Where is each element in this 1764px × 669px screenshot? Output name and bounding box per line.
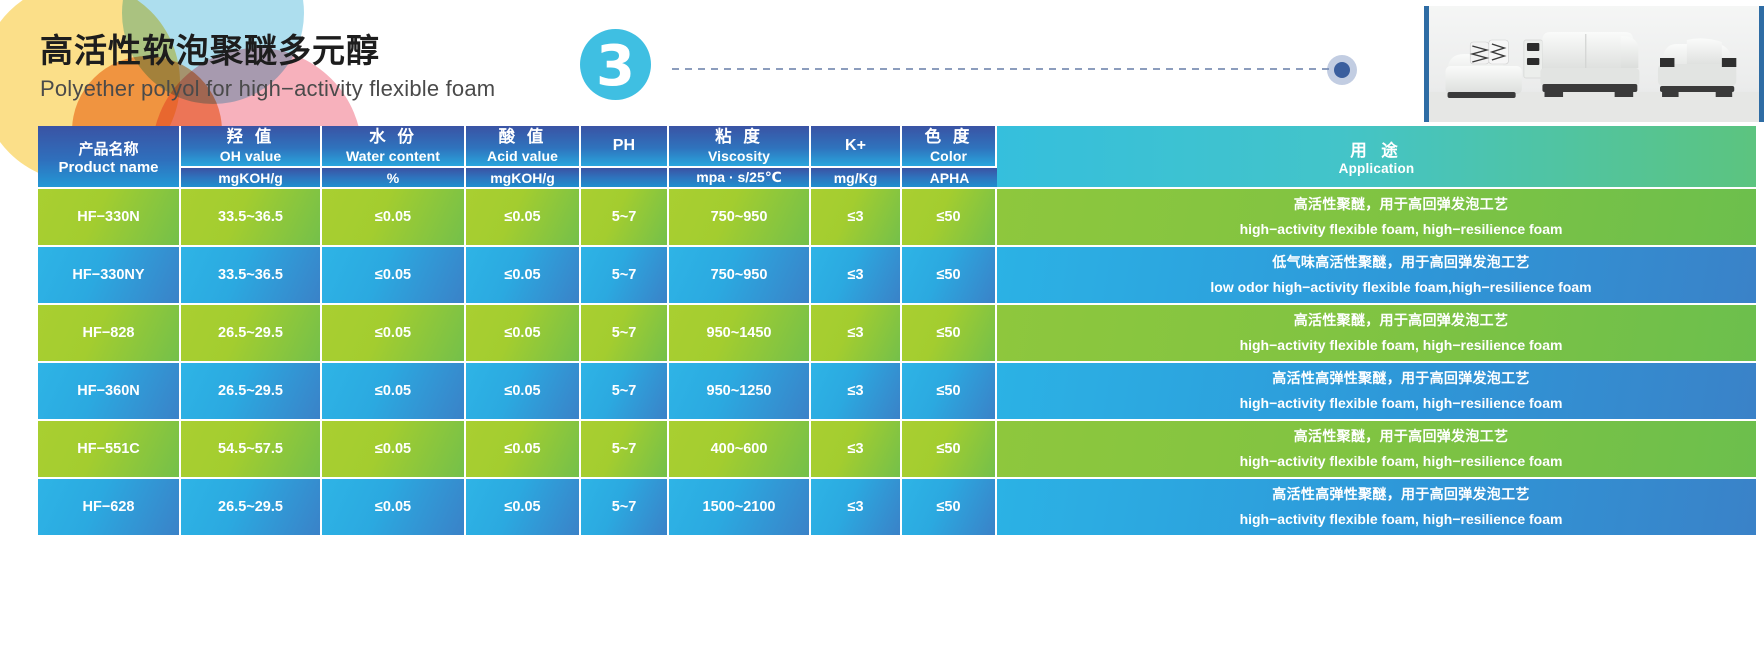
header-viscosity-en: Viscosity	[670, 148, 808, 166]
cell-application: 高活性聚醚，用于高回弹发泡工艺high−activity flexible fo…	[997, 421, 1756, 479]
cell-color: ≤50	[902, 363, 997, 421]
header-color-en: Color	[903, 148, 994, 166]
cell-application-cn: 高活性高弹性聚醚，用于高回弹发泡工艺	[1047, 367, 1755, 392]
unit-acid-value: mgKOH/g	[466, 168, 581, 189]
header-application-en: Application	[998, 161, 1755, 176]
header-oh-value-cn: 羟 值	[182, 127, 319, 148]
cell-application: 高活性聚醚，用于高回弹发泡工艺high−activity flexible fo…	[997, 189, 1756, 247]
table-row: HF−62826.5~29.5≤0.05≤0.055~71500~2100≤3≤…	[38, 479, 1756, 537]
cell-application-cn: 高活性聚醚，用于高回弹发泡工艺	[1047, 425, 1755, 450]
cell-application: 高活性高弹性聚醚，用于高回弹发泡工艺high−activity flexible…	[997, 479, 1756, 537]
unit-ph	[581, 168, 669, 189]
header-potassium-en: K+	[812, 136, 899, 156]
header-viscosity-cn: 粘 度	[670, 127, 808, 148]
cell-k: ≤3	[811, 363, 902, 421]
cell-color: ≤50	[902, 421, 997, 479]
unit-viscosity: mpa · s/25℃	[669, 168, 811, 189]
cell-application-cn: 高活性聚醚，用于高回弹发泡工艺	[1047, 309, 1755, 334]
cell-acid-value: ≤0.05	[466, 305, 581, 363]
cell-product-name: HF−551C	[38, 421, 181, 479]
table-row: HF−330N33.5~36.5≤0.05≤0.055~7750~950≤3≤5…	[38, 189, 1756, 247]
cell-application-cn: 高活性高弹性聚醚，用于高回弹发泡工艺	[1047, 483, 1755, 508]
cell-application-en: high−activity flexible foam, high−resili…	[1047, 217, 1755, 242]
title-chinese: 高活性软泡聚醚多元醇	[40, 32, 495, 71]
cell-k: ≤3	[811, 247, 902, 305]
cell-acid-value: ≤0.05	[466, 479, 581, 537]
cell-acid-value: ≤0.05	[466, 189, 581, 247]
cell-acid-value: ≤0.05	[466, 247, 581, 305]
cell-oh-value: 26.5~29.5	[181, 305, 322, 363]
header-potassium: K+	[811, 126, 902, 168]
cell-viscosity: 950~1250	[669, 363, 811, 421]
cell-viscosity: 750~950	[669, 189, 811, 247]
cell-k: ≤3	[811, 189, 902, 247]
cell-oh-value: 26.5~29.5	[181, 479, 322, 537]
cell-product-name: HF−330N	[38, 189, 181, 247]
connector-endpoint-dot	[1327, 55, 1357, 85]
cell-viscosity: 400~600	[669, 421, 811, 479]
header-oh-value-en: OH value	[182, 148, 319, 166]
cell-product-name: HF−828	[38, 305, 181, 363]
cell-product-name: HF−628	[38, 479, 181, 537]
unit-color: APHA	[902, 168, 997, 189]
cell-viscosity: 1500~2100	[669, 479, 811, 537]
cell-application: 高活性聚醚，用于高回弹发泡工艺high−activity flexible fo…	[997, 305, 1756, 363]
cell-k: ≤3	[811, 305, 902, 363]
cell-oh-value: 26.5~29.5	[181, 363, 322, 421]
cell-viscosity: 950~1450	[669, 305, 811, 363]
header-ph: PH	[581, 126, 669, 168]
cell-water-content: ≤0.05	[322, 305, 466, 363]
cell-ph: 5~7	[581, 305, 669, 363]
header-acid-value-cn: 酸 值	[467, 127, 578, 148]
cell-product-name: HF−330NY	[38, 247, 181, 305]
cell-oh-value: 33.5~36.5	[181, 189, 322, 247]
header-application-cn: 用 途	[998, 137, 1755, 161]
header-viscosity: 粘 度 Viscosity	[669, 126, 811, 168]
header-application: 用 途 Application	[997, 126, 1756, 189]
cell-ph: 5~7	[581, 479, 669, 537]
cell-application-en: high−activity flexible foam, high−resili…	[1047, 507, 1755, 532]
cell-oh-value: 33.5~36.5	[181, 247, 322, 305]
table-row: HF−360N26.5~29.5≤0.05≤0.055~7950~1250≤3≤…	[38, 363, 1756, 421]
cell-oh-value: 54.5~57.5	[181, 421, 322, 479]
product-spec-table: 产品名称 Product name 羟 值 OH value 水 份 Water…	[38, 126, 1756, 537]
header-oh-value: 羟 值 OH value	[181, 126, 322, 168]
table-row: HF−551C54.5~57.5≤0.05≤0.055~7400~600≤3≤5…	[38, 421, 1756, 479]
cell-ph: 5~7	[581, 247, 669, 305]
section-number-badge: 3	[580, 29, 651, 100]
cell-ph: 5~7	[581, 363, 669, 421]
cell-acid-value: ≤0.05	[466, 363, 581, 421]
cell-application-cn: 高活性聚醚，用于高回弹发泡工艺	[1047, 193, 1755, 218]
header-product-name: 产品名称 Product name	[38, 126, 181, 189]
cell-water-content: ≤0.05	[322, 479, 466, 537]
table-header-row-1: 产品名称 Product name 羟 值 OH value 水 份 Water…	[38, 126, 1756, 168]
cell-application-cn: 低气味高活性聚醚，用于高回弹发泡工艺	[1047, 251, 1755, 276]
table-row: HF−82826.5~29.5≤0.05≤0.055~7950~1450≤3≤5…	[38, 305, 1756, 363]
cell-application: 高活性高弹性聚醚，用于高回弹发泡工艺high−activity flexible…	[997, 363, 1756, 421]
cell-k: ≤3	[811, 421, 902, 479]
page-title: 高活性软泡聚醚多元醇 Polyether polyol for high−act…	[40, 32, 495, 102]
header-ph-en: PH	[582, 136, 666, 156]
header-acid-value: 酸 值 Acid value	[466, 126, 581, 168]
table-body: HF−330N33.5~36.5≤0.05≤0.055~7750~950≤3≤5…	[38, 189, 1756, 537]
cell-application-en: high−activity flexible foam, high−resili…	[1047, 449, 1755, 474]
cell-water-content: ≤0.05	[322, 247, 466, 305]
cell-color: ≤50	[902, 247, 997, 305]
cell-ph: 5~7	[581, 189, 669, 247]
cell-water-content: ≤0.05	[322, 189, 466, 247]
header-water-content: 水 份 Water content	[322, 126, 466, 168]
badge-number-text: 3	[596, 34, 635, 99]
header-water-content-cn: 水 份	[323, 127, 463, 148]
unit-potassium: mg/Kg	[811, 168, 902, 189]
header-color: 色 度 Color	[902, 126, 997, 168]
cell-color: ≤50	[902, 479, 997, 537]
cell-water-content: ≤0.05	[322, 421, 466, 479]
unit-water-content: %	[322, 168, 466, 189]
cell-water-content: ≤0.05	[322, 363, 466, 421]
header-product-name-en: Product name	[39, 159, 178, 176]
cell-color: ≤50	[902, 305, 997, 363]
header-acid-value-en: Acid value	[467, 148, 578, 166]
title-english: Polyether polyol for high−activity flexi…	[40, 76, 495, 102]
cell-application-en: high−activity flexible foam, high−resili…	[1047, 391, 1755, 416]
cell-application-en: low odor high−activity flexible foam,hig…	[1047, 275, 1755, 300]
header-water-content-en: Water content	[323, 148, 463, 166]
cell-product-name: HF−360N	[38, 363, 181, 421]
table-row: HF−330NY33.5~36.5≤0.05≤0.055~7750~950≤3≤…	[38, 247, 1756, 305]
cell-application-en: high−activity flexible foam, high−resili…	[1047, 333, 1755, 358]
cell-ph: 5~7	[581, 421, 669, 479]
header-product-name-cn: 产品名称	[39, 138, 178, 159]
header-color-cn: 色 度	[903, 127, 994, 148]
product-photo-sofa	[1424, 6, 1764, 122]
dashed-connector-line	[672, 68, 1332, 70]
cell-color: ≤50	[902, 189, 997, 247]
unit-oh-value: mgKOH/g	[181, 168, 322, 189]
cell-acid-value: ≤0.05	[466, 421, 581, 479]
cell-application: 低气味高活性聚醚，用于高回弹发泡工艺low odor high−activity…	[997, 247, 1756, 305]
cell-k: ≤3	[811, 479, 902, 537]
cell-viscosity: 750~950	[669, 247, 811, 305]
